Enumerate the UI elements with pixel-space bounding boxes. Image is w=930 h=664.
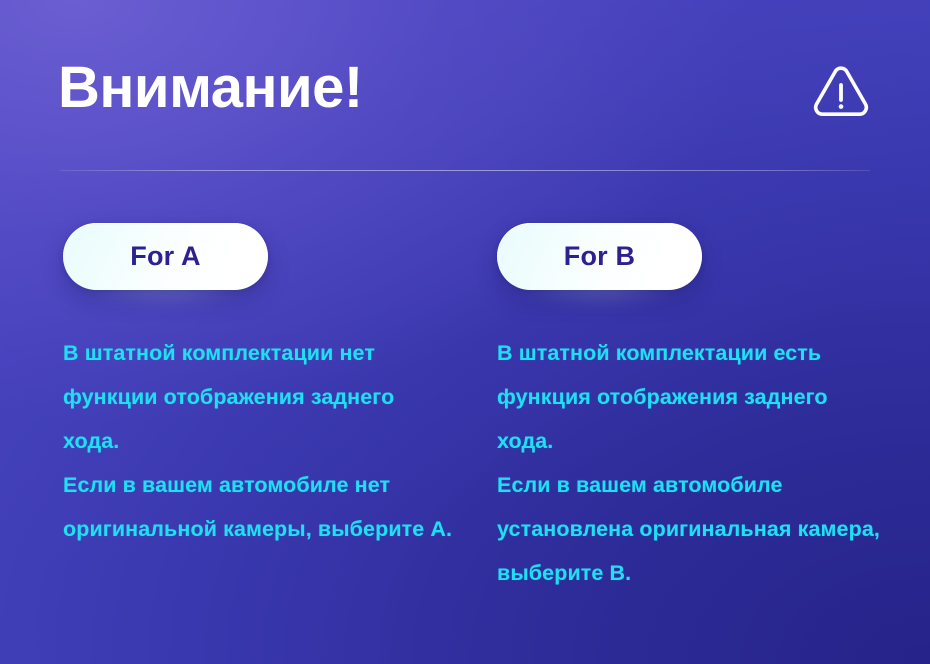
- divider: [60, 170, 870, 171]
- column-b-paragraph-1: В штатной комплектации есть функция отоб…: [497, 331, 887, 463]
- column-b: For B В штатной комплектации есть функци…: [497, 223, 897, 595]
- column-a-paragraph-2: Если в вашем автомобиле нет оригинальной…: [63, 463, 453, 551]
- page-title: Внимание!: [58, 52, 363, 124]
- header: Внимание!: [58, 52, 872, 148]
- for-a-button-wrap: For A: [63, 223, 268, 290]
- column-b-paragraph-2: Если в вашем автомобиле установлена ориг…: [497, 463, 887, 595]
- warning-triangle-icon: [810, 62, 872, 122]
- for-b-button-label: For B: [564, 243, 636, 270]
- for-a-button-label: For A: [130, 243, 201, 270]
- warning-slide: Внимание! For A В штатной комплектации н…: [0, 0, 930, 664]
- column-a-paragraph-1: В штатной комплектации нет функции отобр…: [63, 331, 453, 463]
- column-a: For A В штатной комплектации нет функции…: [63, 223, 463, 551]
- for-b-button-wrap: For B: [497, 223, 702, 290]
- for-a-button[interactable]: For A: [63, 223, 268, 290]
- for-b-button[interactable]: For B: [497, 223, 702, 290]
